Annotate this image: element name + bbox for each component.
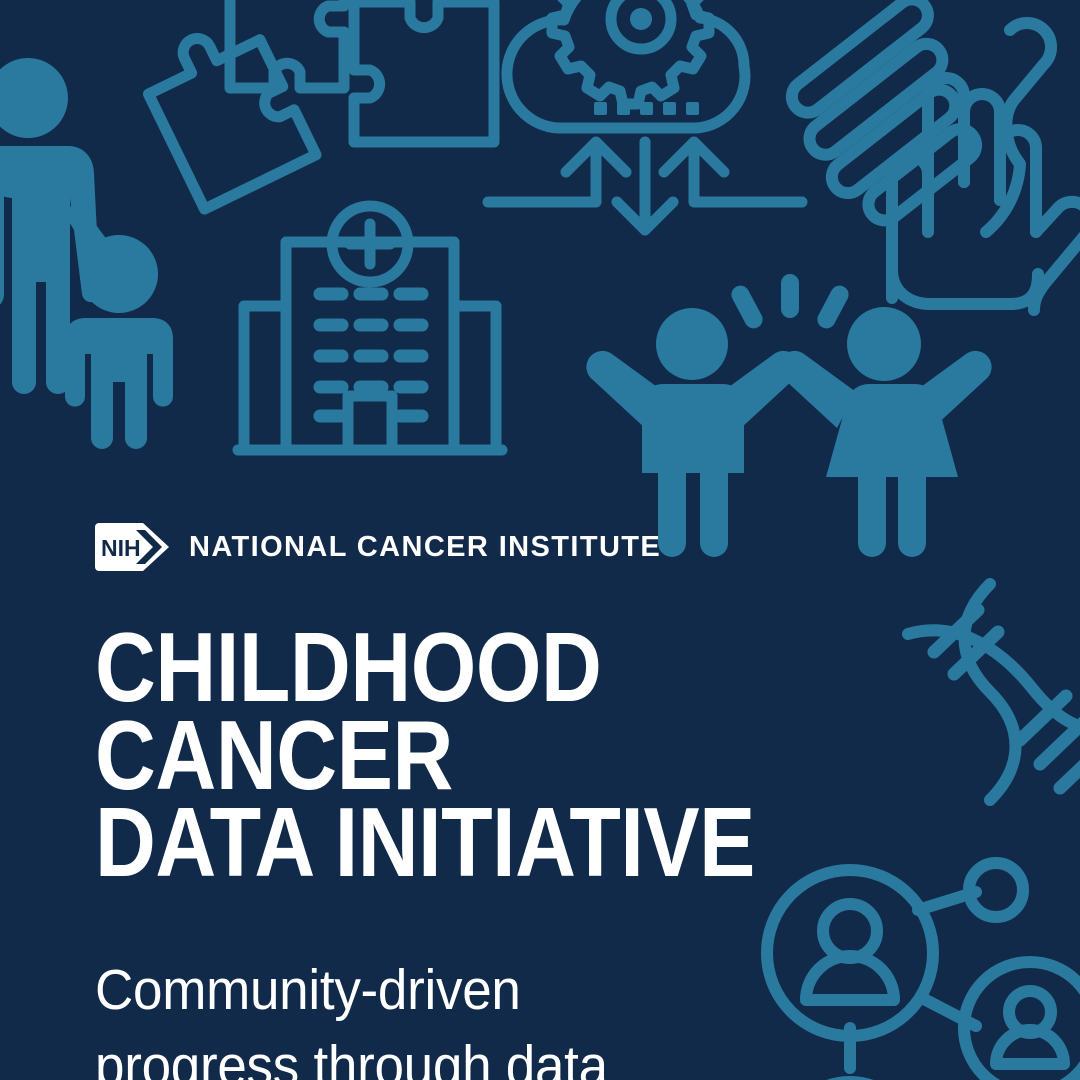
adult-and-child-icon xyxy=(0,52,186,382)
page-subtitle: Community-driven progress through data xyxy=(95,953,839,1080)
nci-logo-lockup: NIH NATIONAL CANCER INSTITUTE xyxy=(95,522,895,572)
high-five-hands-icon xyxy=(832,12,1080,302)
nih-mark-text: NIH xyxy=(101,535,141,561)
celebrating-children-icon xyxy=(602,272,994,558)
hospital-building-icon xyxy=(232,202,508,456)
nci-wordmark: NATIONAL CANCER INSTITUTE xyxy=(189,533,661,562)
nih-logo-mark: NIH xyxy=(95,523,169,571)
content-block: NIH NATIONAL CANCER INSTITUTE CHILDHOOD … xyxy=(95,522,895,1080)
cloud-data-sharing-icon xyxy=(486,0,804,232)
dna-helix-icon xyxy=(898,578,1080,814)
poster-canvas: NIH NATIONAL CANCER INSTITUTE CHILDHOOD … xyxy=(0,0,1080,1080)
puzzle-pieces-icon xyxy=(168,0,436,166)
page-title: CHILDHOOD CANCER DATA INITIATIVE xyxy=(95,624,783,887)
